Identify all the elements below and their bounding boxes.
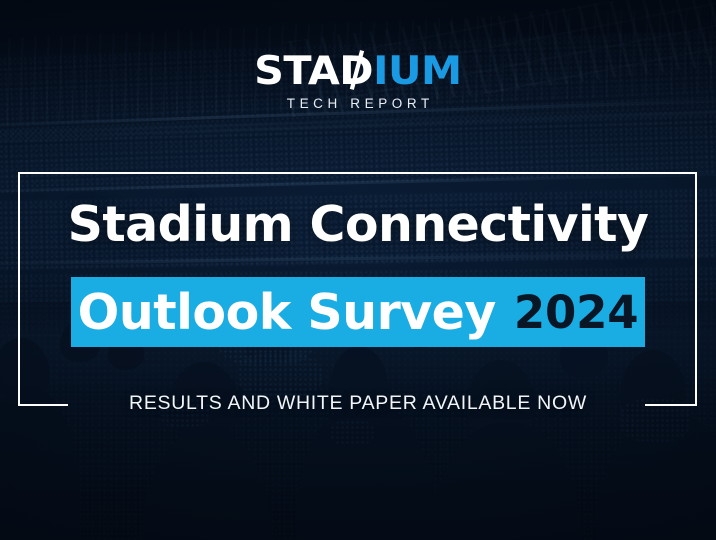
hero-highlight-band: Outlook Survey 2024 (71, 277, 645, 347)
hero-subtitle: RESULTS AND WHITE PAPER AVAILABLE NOW (0, 392, 716, 415)
hero-highlight-year: 2024 (514, 290, 638, 335)
hero-title: Stadium Connectivity (0, 200, 716, 249)
hero-highlight-text: Outlook Survey (78, 288, 496, 337)
promo-banner: STADIUM TECH REPORT Stadium Connectivity… (0, 0, 716, 540)
